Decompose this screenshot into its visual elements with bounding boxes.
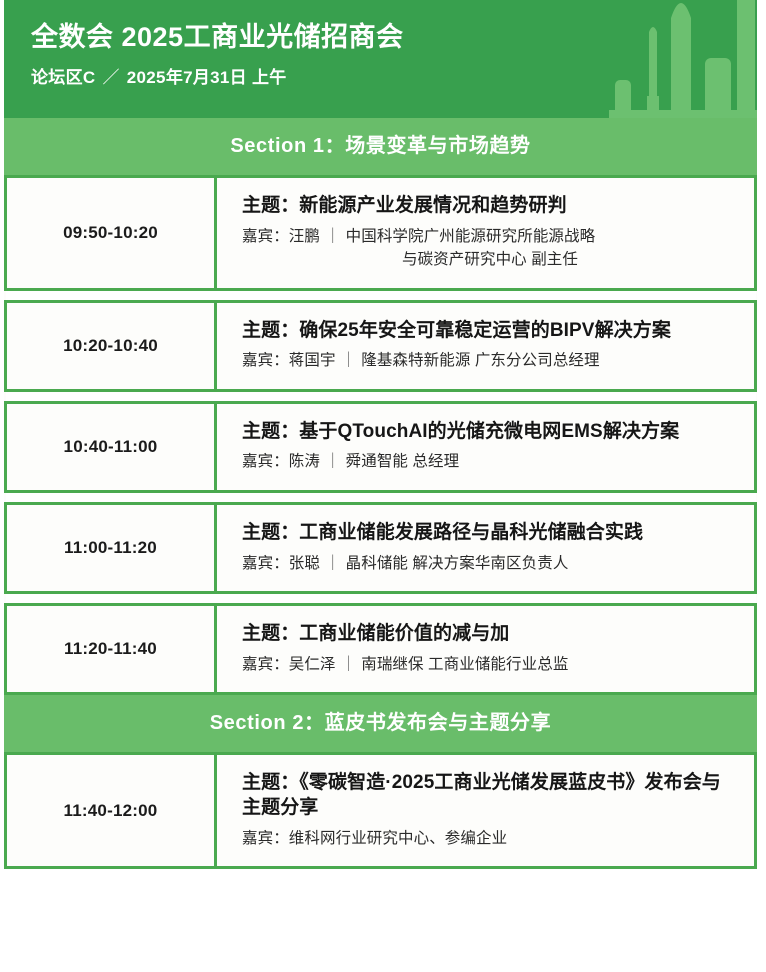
- guest-divider: ｜: [320, 553, 346, 575]
- row-topic: 主题：《零碳智造·2025工商业光储发展蓝皮书》发布会与主题分享: [242, 771, 738, 820]
- guest-divider: ｜: [320, 451, 346, 473]
- guest-affiliation: 中国科学院广州能源研究所能源战略: [346, 228, 596, 245]
- row-detail: 主题：工商业储能价值的减与加 嘉宾：吴仁泽｜南瑞继保 工商业储能行业总监: [216, 605, 756, 694]
- row-spacer: [6, 289, 756, 301]
- row-guest: 嘉宾：汪鹏｜中国科学院广州能源研究所能源战略 与碳资产研究中心 副主任: [242, 226, 738, 272]
- row-detail: 主题：基于QTouchAI的光储充微电网EMS解决方案 嘉宾：陈涛｜舜通智能 总…: [216, 402, 756, 491]
- guest-name: 嘉宾：汪鹏: [242, 228, 320, 245]
- table-row[interactable]: 11:20-11:40 主题：工商业储能价值的减与加 嘉宾：吴仁泽｜南瑞继保 工…: [6, 605, 756, 694]
- guest-affiliation: 舜通智能 总经理: [346, 453, 460, 470]
- table-row[interactable]: 09:50-10:20 主题：新能源产业发展情况和趋势研判 嘉宾：汪鹏｜中国科学…: [6, 177, 756, 290]
- agenda-poster: 全数会 2025工商业光储招商会 论坛区C／2025年7月31日 上午 Sect…: [0, 0, 766, 972]
- row-topic: 主题：新能源产业发展情况和趋势研判: [242, 194, 738, 219]
- guest-name: 嘉宾：陈涛: [242, 453, 320, 470]
- table-row[interactable]: 11:40-12:00 主题：《零碳智造·2025工商业光储发展蓝皮书》发布会与…: [6, 754, 756, 868]
- guest-name: 嘉宾：维科网行业研究中心、参编企业: [242, 830, 507, 847]
- row-guest: 嘉宾：蒋国宇｜隆基森特新能源 广东分公司总经理: [242, 350, 738, 372]
- row-detail: 主题：《零碳智造·2025工商业光储发展蓝皮书》发布会与主题分享 嘉宾：维科网行…: [216, 754, 756, 868]
- subtitle-separator: ／: [95, 63, 126, 88]
- header-subtitle: 论坛区C／2025年7月31日 上午: [31, 63, 757, 88]
- guest-divider: ｜: [336, 350, 362, 372]
- guest-name: 嘉宾：蒋国宇: [242, 352, 336, 369]
- row-spacer: [6, 593, 756, 605]
- row-time: 11:40-12:00: [6, 754, 216, 868]
- venue-label: 论坛区C: [31, 68, 95, 87]
- row-time: 10:40-11:00: [6, 402, 216, 491]
- row-guest: 嘉宾：吴仁泽｜南瑞继保 工商业储能行业总监: [242, 654, 738, 676]
- row-guest: 嘉宾：张聪｜晶科储能 解决方案华南区负责人: [242, 553, 738, 575]
- schedule-table-1: 09:50-10:20 主题：新能源产业发展情况和趋势研判 嘉宾：汪鹏｜中国科学…: [4, 175, 757, 695]
- page-title: 全数会 2025工商业光储招商会: [31, 22, 757, 53]
- row-spacer: [6, 390, 756, 402]
- table-row[interactable]: 10:20-10:40 主题：确保25年安全可靠稳定运营的BIPV解决方案 嘉宾…: [6, 301, 756, 390]
- row-detail: 主题：确保25年安全可靠稳定运营的BIPV解决方案 嘉宾：蒋国宇｜隆基森特新能源…: [216, 301, 756, 390]
- schedule-table-2: 11:40-12:00 主题：《零碳智造·2025工商业光储发展蓝皮书》发布会与…: [4, 752, 757, 869]
- row-topic: 主题：基于QTouchAI的光储充微电网EMS解决方案: [242, 420, 738, 445]
- poster-header: 全数会 2025工商业光储招商会 论坛区C／2025年7月31日 上午: [4, 0, 757, 118]
- row-guest: 嘉宾：陈涛｜舜通智能 总经理: [242, 451, 738, 473]
- date-label: 2025年7月31日 上午: [127, 68, 287, 87]
- row-time: 11:00-11:20: [6, 503, 216, 592]
- row-time: 10:20-10:40: [6, 301, 216, 390]
- table-row[interactable]: 10:40-11:00 主题：基于QTouchAI的光储充微电网EMS解决方案 …: [6, 402, 756, 491]
- row-detail: 主题：新能源产业发展情况和趋势研判 嘉宾：汪鹏｜中国科学院广州能源研究所能源战略…: [216, 177, 756, 290]
- table-row[interactable]: 11:00-11:20 主题：工商业储能发展路径与晶科光储融合实践 嘉宾：张聪｜…: [6, 503, 756, 592]
- row-guest: 嘉宾：维科网行业研究中心、参编企业: [242, 828, 738, 850]
- guest-affiliation: 晶科储能 解决方案华南区负责人: [346, 555, 569, 572]
- guest-affiliation-line2: 与碳资产研究中心 副主任: [242, 249, 738, 271]
- section-banner-2: Section 2：蓝皮书发布会与主题分享: [4, 695, 757, 752]
- row-time: 11:20-11:40: [6, 605, 216, 694]
- row-topic: 主题：确保25年安全可靠稳定运营的BIPV解决方案: [242, 319, 738, 344]
- row-time: 09:50-10:20: [6, 177, 216, 290]
- guest-affiliation: 隆基森特新能源 广东分公司总经理: [361, 352, 599, 369]
- guest-divider: ｜: [320, 226, 346, 248]
- row-topic: 主题：工商业储能发展路径与晶科光储融合实践: [242, 521, 738, 546]
- guest-name: 嘉宾：吴仁泽: [242, 656, 336, 673]
- row-spacer: [6, 491, 756, 503]
- row-topic: 主题：工商业储能价值的减与加: [242, 622, 738, 647]
- section-banner-1: Section 1：场景变革与市场趋势: [4, 118, 757, 175]
- guest-affiliation: 南瑞继保 工商业储能行业总监: [361, 656, 568, 673]
- header-text-block: 全数会 2025工商业光储招商会 论坛区C／2025年7月31日 上午: [4, 0, 757, 88]
- guest-divider: ｜: [336, 654, 362, 676]
- guest-name: 嘉宾：张聪: [242, 555, 320, 572]
- row-detail: 主题：工商业储能发展路径与晶科光储融合实践 嘉宾：张聪｜晶科储能 解决方案华南区…: [216, 503, 756, 592]
